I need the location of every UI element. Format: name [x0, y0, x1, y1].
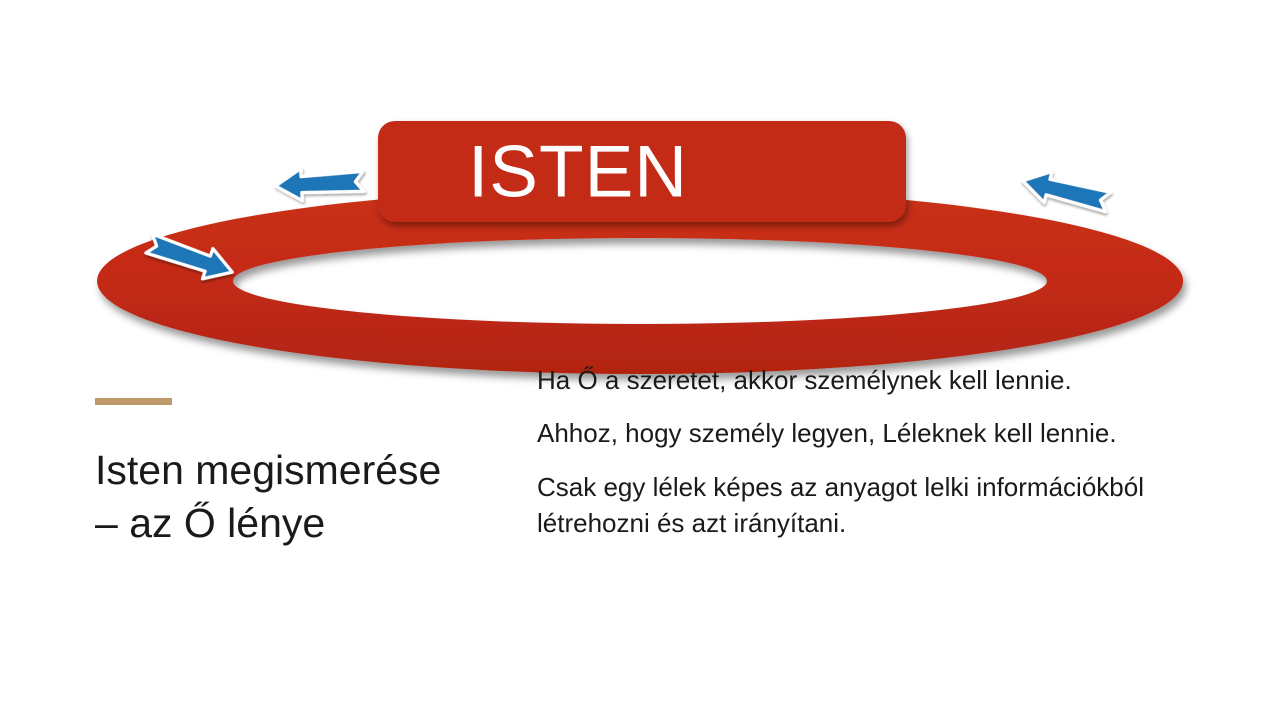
title-block: Isten megismerése – az Ő lénye — [95, 398, 515, 551]
body-text-block: Ha Ő a szeretet, akkor személynek kell l… — [537, 362, 1249, 542]
body-paragraph: Ha Ő a szeretet, akkor személynek kell l… — [537, 362, 1249, 398]
slide-canvas: SZERETET GYÜMÖLCS ISTEN IGÉJE — [0, 0, 1280, 720]
body-paragraph: Csak egy lélek képes az anyagot lelki in… — [537, 469, 1249, 542]
isten-center-label: ISTEN — [378, 135, 906, 208]
isten-center-box: ISTEN — [378, 121, 906, 222]
page-title: Isten megismerése – az Ő lénye — [95, 444, 515, 551]
arrow-left-top-right — [1019, 165, 1112, 217]
body-paragraph: Ahhoz, hogy személy legyen, Léleknek kel… — [537, 415, 1249, 451]
title-accent-rule — [95, 398, 172, 405]
